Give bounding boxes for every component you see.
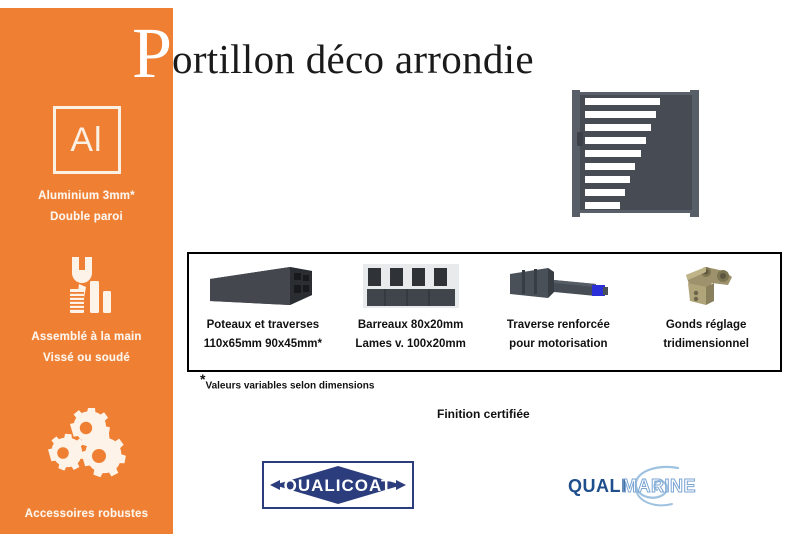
- bars-slats-image: [363, 260, 459, 312]
- sidebar-feature-aluminium-line1: Aluminium 3mm*: [0, 186, 173, 207]
- qualicoat-logo: QUALICOAT: [262, 461, 414, 509]
- product-cell-barreaux-line2: Lames v. 100x20mm: [355, 335, 465, 354]
- qualimarine-logo: QUALI MARINE: [560, 464, 712, 510]
- finition-label: Finition certifiée: [437, 407, 530, 421]
- sidebar-feature-aluminium-line2: Double paroi: [0, 207, 173, 228]
- svg-text:QUALICOAT: QUALICOAT: [284, 476, 393, 495]
- sidebar-feature-accessories-line1: Accessoires robustes: [0, 504, 173, 525]
- product-cell-poteaux-line2: 110x65mm 90x45mm*: [204, 335, 322, 354]
- product-cell-gonds-line2: tridimensionnel: [663, 335, 749, 354]
- footnote-text: Valeurs variables selon dimensions: [205, 380, 374, 391]
- hinge-bracket-image: [666, 260, 746, 312]
- product-cell-traverse-line1: Traverse renforcée: [507, 316, 610, 335]
- page-title: P ortillon déco arrondie: [132, 18, 534, 84]
- reinforced-crossbar-image: [502, 260, 614, 312]
- post-profile-image: [204, 260, 322, 312]
- sidebar-feature-accessories: Accessoires robustes: [0, 408, 173, 525]
- product-cell-traverse-line2: pour motorisation: [509, 335, 607, 354]
- sidebar-feature-assembly-line1: Assemblé à la main: [0, 327, 173, 348]
- gears-icon: [0, 408, 173, 482]
- sidebar-feature-assembly-line2: Vissé ou soudé: [0, 348, 173, 369]
- product-cell-gonds-line1: Gonds réglage: [666, 316, 747, 335]
- product-cell-poteaux: Poteaux et traverses 110x65mm 90x45mm*: [189, 254, 337, 370]
- product-cell-traverse: Traverse renforcée pour motorisation: [485, 254, 633, 370]
- product-sheet-page: Al Aluminium 3mm* Double paroi: [0, 0, 800, 534]
- footnote: *Valeurs variables selon dimensions: [200, 379, 374, 391]
- product-cell-poteaux-line1: Poteaux et traverses: [207, 316, 320, 335]
- product-cell-gonds: Gonds réglage tridimensionnel: [632, 254, 780, 370]
- svg-text:QUALI: QUALI: [568, 476, 627, 496]
- aluminium-square-icon: Al: [0, 106, 173, 174]
- page-title-dropcap: P: [132, 22, 172, 84]
- product-cell-barreaux: Barreaux 80x20mm Lames v. 100x20mm: [337, 254, 485, 370]
- page-title-text: ortillon déco arrondie: [172, 33, 534, 85]
- aluminium-square-icon-label: Al: [53, 106, 121, 174]
- sidebar-feature-assembly: Assemblé à la main Vissé ou soudé: [0, 253, 173, 369]
- portillon-gate-image: [568, 86, 708, 221]
- sidebar-feature-aluminium: Al Aluminium 3mm* Double paroi: [0, 106, 173, 228]
- svg-text:MARINE: MARINE: [622, 476, 696, 496]
- product-spec-panel: Poteaux et traverses 110x65mm 90x45mm*: [187, 252, 782, 372]
- product-cell-barreaux-line1: Barreaux 80x20mm: [358, 316, 464, 335]
- wrench-tools-icon: [0, 253, 173, 319]
